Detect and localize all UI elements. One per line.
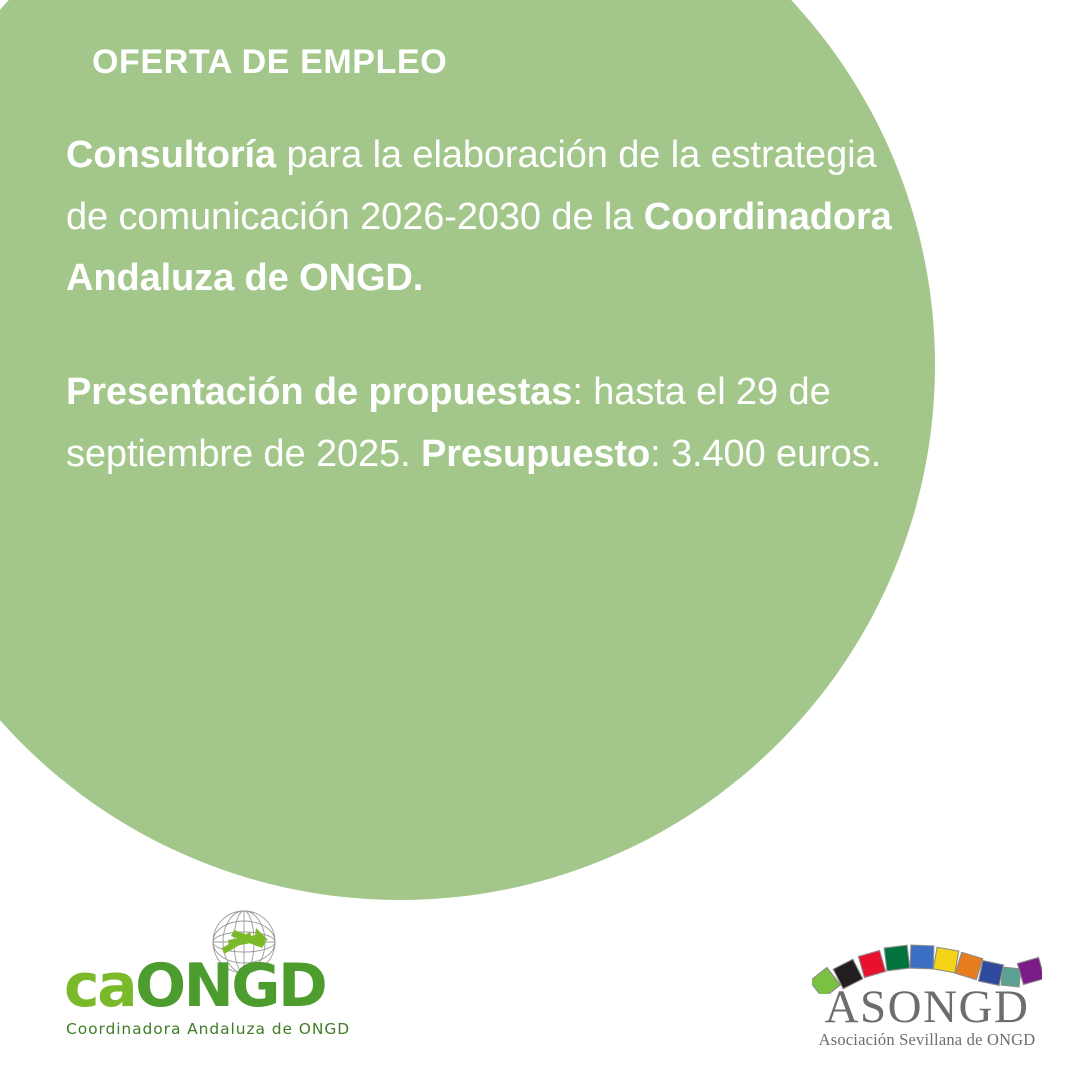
job-role-bold: Consultoría — [66, 134, 276, 176]
caongd-word-dark: ONGD — [135, 951, 325, 1021]
caongd-word-light: ca — [64, 951, 135, 1021]
asongd-tagline: Asociación Sevillana de ONGD — [812, 1030, 1042, 1050]
poster-content: OFERTA DE EMPLEO Consultoría para la ela… — [66, 44, 896, 485]
budget-value: : 3.400 euros. — [650, 433, 881, 475]
caongd-tagline: Coordinadora Andaluza de ONGD — [66, 1020, 350, 1038]
page-title: OFERTA DE EMPLEO — [92, 44, 896, 81]
deadline-label: Presentación de propuestas — [66, 371, 572, 413]
caongd-logo: caONGD Coordinadora Andaluza de ONGD — [64, 902, 354, 1042]
asongd-wordmark: ASONGD — [812, 982, 1042, 1032]
job-description-paragraph: Consultoría para la elaboración de la es… — [66, 125, 896, 310]
asongd-logo: ASONGD Asociación Sevillana de ONGD — [812, 938, 1042, 1043]
caongd-wordmark: caONGD — [64, 957, 354, 1015]
submission-details-paragraph: Presentación de propuestas: hasta el 29 … — [66, 362, 896, 485]
budget-label: Presupuesto — [411, 433, 651, 475]
poster-canvas: OFERTA DE EMPLEO Consultoría para la ela… — [0, 0, 1080, 1080]
paragraph-spacer — [66, 310, 896, 362]
